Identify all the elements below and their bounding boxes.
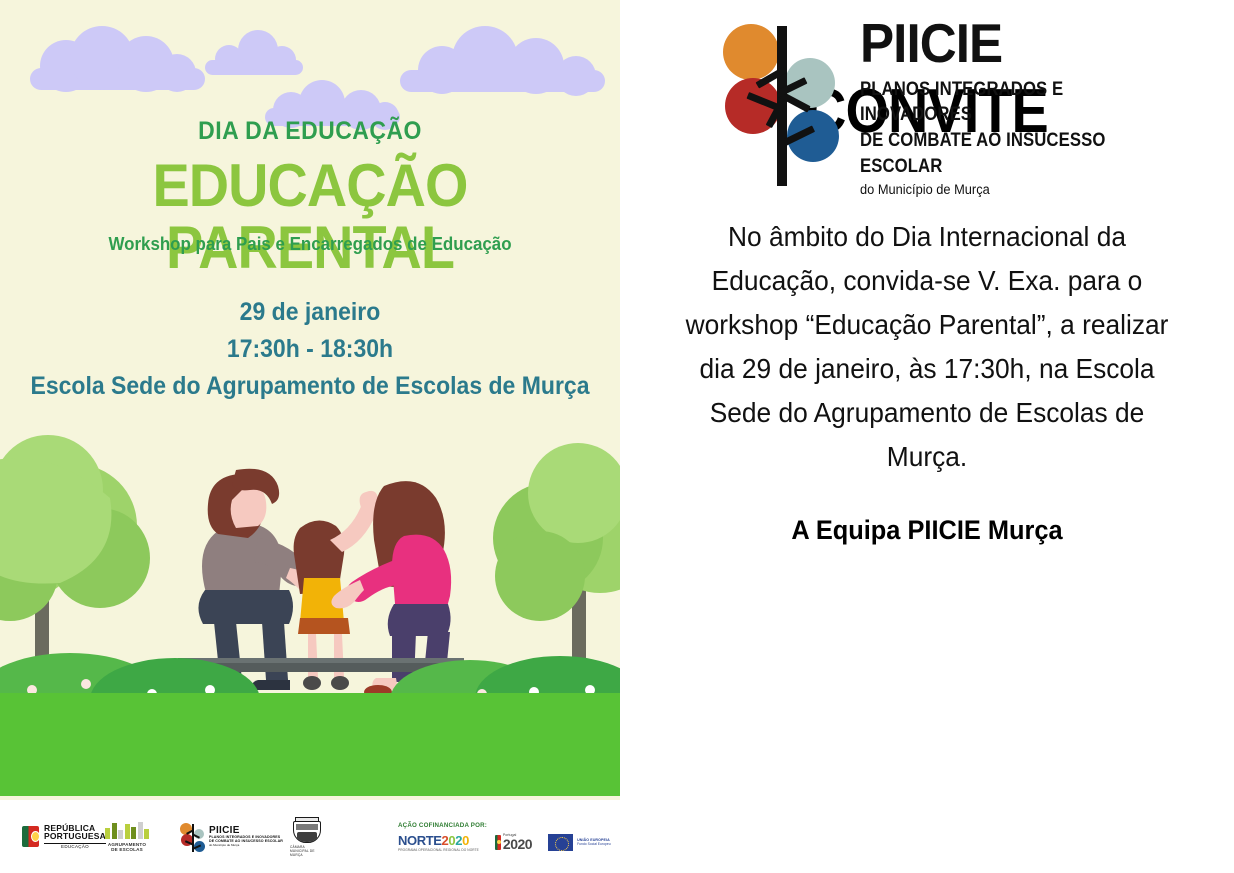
piicie-tree-icon-large bbox=[715, 18, 845, 188]
portugal-flag-icon bbox=[22, 826, 39, 847]
logo-uniao-europeia: UNIÃO EUROPEIA Fundo Social Europeu bbox=[548, 834, 611, 851]
tree-right bbox=[493, 443, 620, 658]
piicie-line3: do Município de Murça bbox=[860, 182, 1174, 197]
coat-of-arms-icon: CÂMARA MUNICIPAL DE MURÇA bbox=[290, 817, 324, 857]
piicie-logo: PIICIE PLANOS INTEGRADOS E INOVADORES DE… bbox=[715, 10, 1185, 195]
invitation-body-text: No âmbito do Dia Internacional da Educaç… bbox=[667, 215, 1188, 479]
logo-agrupamento-escolas: AGRUPAMENTO DE ESCOLAS bbox=[105, 800, 149, 873]
logo-portugal2020: Portugal 2020 bbox=[495, 834, 532, 851]
municipio-caption: CÂMARA MUNICIPAL DE MURÇA bbox=[290, 845, 324, 857]
piicie-acronym: PIICIE bbox=[860, 18, 1167, 69]
portugal2020-year: 2020 bbox=[503, 838, 532, 851]
cofinancing-block: AÇÃO COFINANCIADA POR: NORTE2020 PROGRAM… bbox=[398, 800, 611, 873]
piicie-small-line3: do Município de Murça bbox=[209, 844, 283, 847]
poster-place: Escola Sede do Agrupamento de Escolas de… bbox=[25, 372, 595, 401]
poster-date: 29 de janeiro bbox=[25, 298, 595, 327]
family-park-illustration bbox=[0, 408, 620, 708]
cofinancing-label: AÇÃO COFINANCIADA POR: bbox=[398, 822, 611, 829]
agrupamento-line2: DE ESCOLAS bbox=[105, 847, 149, 852]
republica-line2: PORTUGUESA bbox=[44, 832, 106, 841]
poster-subtitle: Workshop para Pais e Encarregados de Edu… bbox=[19, 234, 602, 255]
eu-line2: Fundo Social Europeu bbox=[577, 843, 611, 847]
logo-norte2020: NORTE2020 PROGRAMA OPERACIONAL REGIONAL … bbox=[398, 834, 479, 852]
murca-wordmark-icon bbox=[105, 822, 149, 839]
invitation-panel: CONVITE No âmbito do Dia Internacional d… bbox=[620, 0, 1234, 873]
grass-ground bbox=[0, 693, 620, 796]
logo-piicie-small: PIICIE PLANOS INTEGRADOS E INOVADORES DE… bbox=[180, 800, 283, 873]
logo-municipio-murca: CÂMARA MUNICIPAL DE MURÇA bbox=[290, 800, 324, 873]
norte2020-sub: PROGRAMA OPERACIONAL REGIONAL DO NORTE bbox=[398, 848, 479, 852]
agrupamento-line1: AGRUPAMENTO bbox=[105, 842, 149, 847]
republica-line3: EDUCAÇÃO bbox=[44, 845, 106, 850]
portugal-flag-small-icon bbox=[495, 835, 501, 850]
invitation-signature: A Equipa PIICIE Murça bbox=[638, 515, 1215, 546]
piicie-line2: DE COMBATE AO INSUCESSO ESCOLAR bbox=[860, 128, 1150, 179]
poster-kicker: DIA DA EDUCAÇÃO bbox=[25, 117, 595, 146]
logo-republica-portuguesa: REPÚBLICA PORTUGUESA EDUCAÇÃO bbox=[22, 800, 106, 873]
piicie-tree-icon bbox=[180, 822, 206, 852]
footer-logo-strip: REPÚBLICA PORTUGUESA EDUCAÇÃO bbox=[0, 800, 620, 873]
tree-left bbox=[0, 435, 150, 658]
poster-time: 17:30h - 18:30h bbox=[25, 335, 595, 364]
eu-flag-icon bbox=[548, 834, 573, 851]
piicie-line1: PLANOS INTEGRADOS E INOVADORES bbox=[860, 77, 1150, 128]
poster-title: EDUCAÇÃO PARENTAL bbox=[22, 155, 599, 279]
invitation-flyer: DIA DA EDUCAÇÃO EDUCAÇÃO PARENTAL Worksh… bbox=[0, 0, 1234, 873]
poster-panel: DIA DA EDUCAÇÃO EDUCAÇÃO PARENTAL Worksh… bbox=[0, 0, 620, 873]
